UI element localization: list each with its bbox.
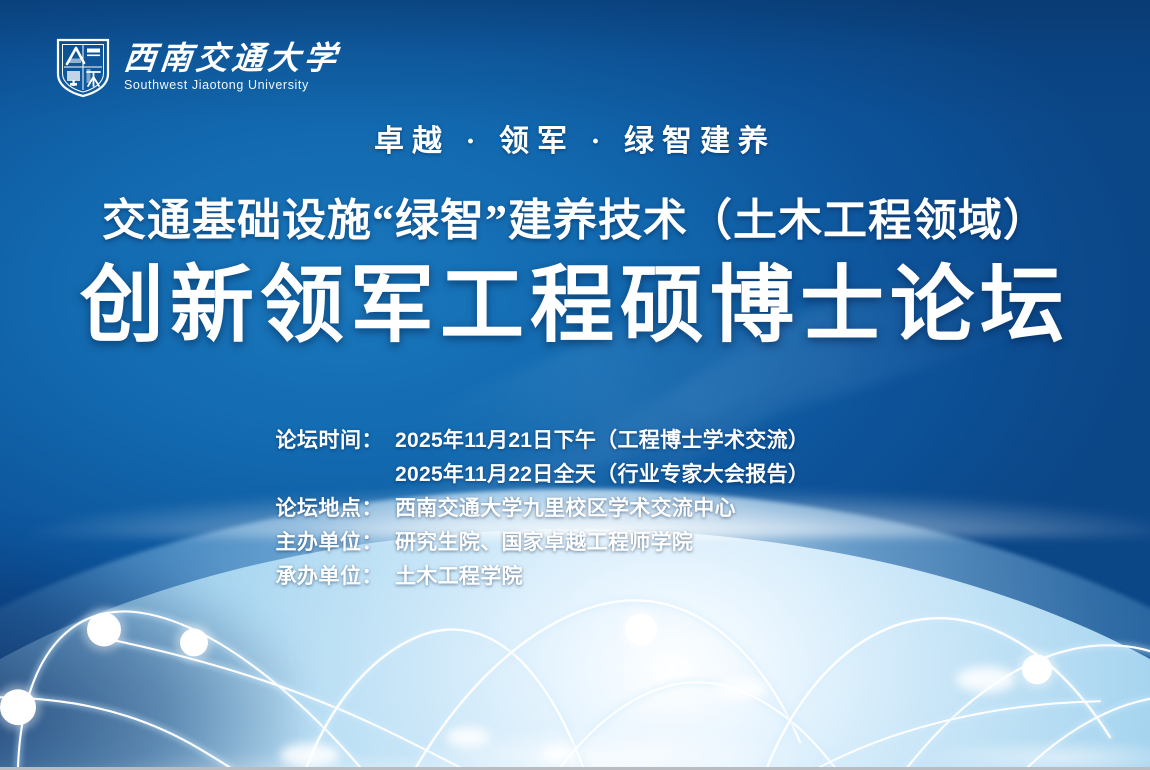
detail-row-time-2: 2025年11月22日全天（行业专家大会报告） (255, 458, 895, 492)
detail-value: 2025年11月22日全天（行业专家大会报告） (383, 458, 809, 492)
detail-value: 西南交通大学九里校区学术交流中心 (383, 492, 736, 526)
university-logo: 西南交通大学 Southwest Jiaotong University (54, 36, 340, 98)
detail-row-venue: 论坛地点： 西南交通大学九里校区学术交流中心 (255, 492, 895, 526)
detail-value: 土木工程学院 (383, 560, 523, 594)
detail-label: 论坛时间： (255, 424, 383, 458)
poster-main-title: 创新领军工程硕博士论坛 (0, 264, 1150, 350)
event-details-block: 论坛时间： 2025年11月21日下午（工程博士学术交流） 2025年11月22… (0, 424, 1150, 594)
event-poster: 西南交通大学 Southwest Jiaotong University 卓越 … (0, 0, 1150, 770)
logo-name-cn: 西南交通大学 (122, 42, 341, 74)
arc-group-center (300, 600, 855, 767)
poster-slogan: 卓越 · 领军 · 绿智建养 (0, 116, 1150, 160)
poster-subtitle: 交通基础设施“绿智”建养技术（土木工程领域） (0, 184, 1150, 248)
detail-row-host: 承办单位： 土木工程学院 (255, 560, 895, 594)
detail-label: 论坛地点： (255, 492, 383, 526)
detail-value: 2025年11月21日下午（工程博士学术交流） (383, 424, 809, 458)
detail-row-organizer: 主办单位： 研究生院、国家卓越工程师学院 (255, 526, 895, 560)
logo-name-en: Southwest Jiaotong University (124, 79, 340, 92)
detail-label: 主办单位： (255, 526, 383, 560)
arc-flares (280, 666, 1016, 767)
sjtu-shield-icon (54, 36, 112, 98)
detail-value: 研究生院、国家卓越工程师学院 (383, 526, 693, 560)
detail-row-time-1: 论坛时间： 2025年11月21日下午（工程博士学术交流） (255, 424, 895, 458)
detail-label: 承办单位： (255, 560, 383, 594)
